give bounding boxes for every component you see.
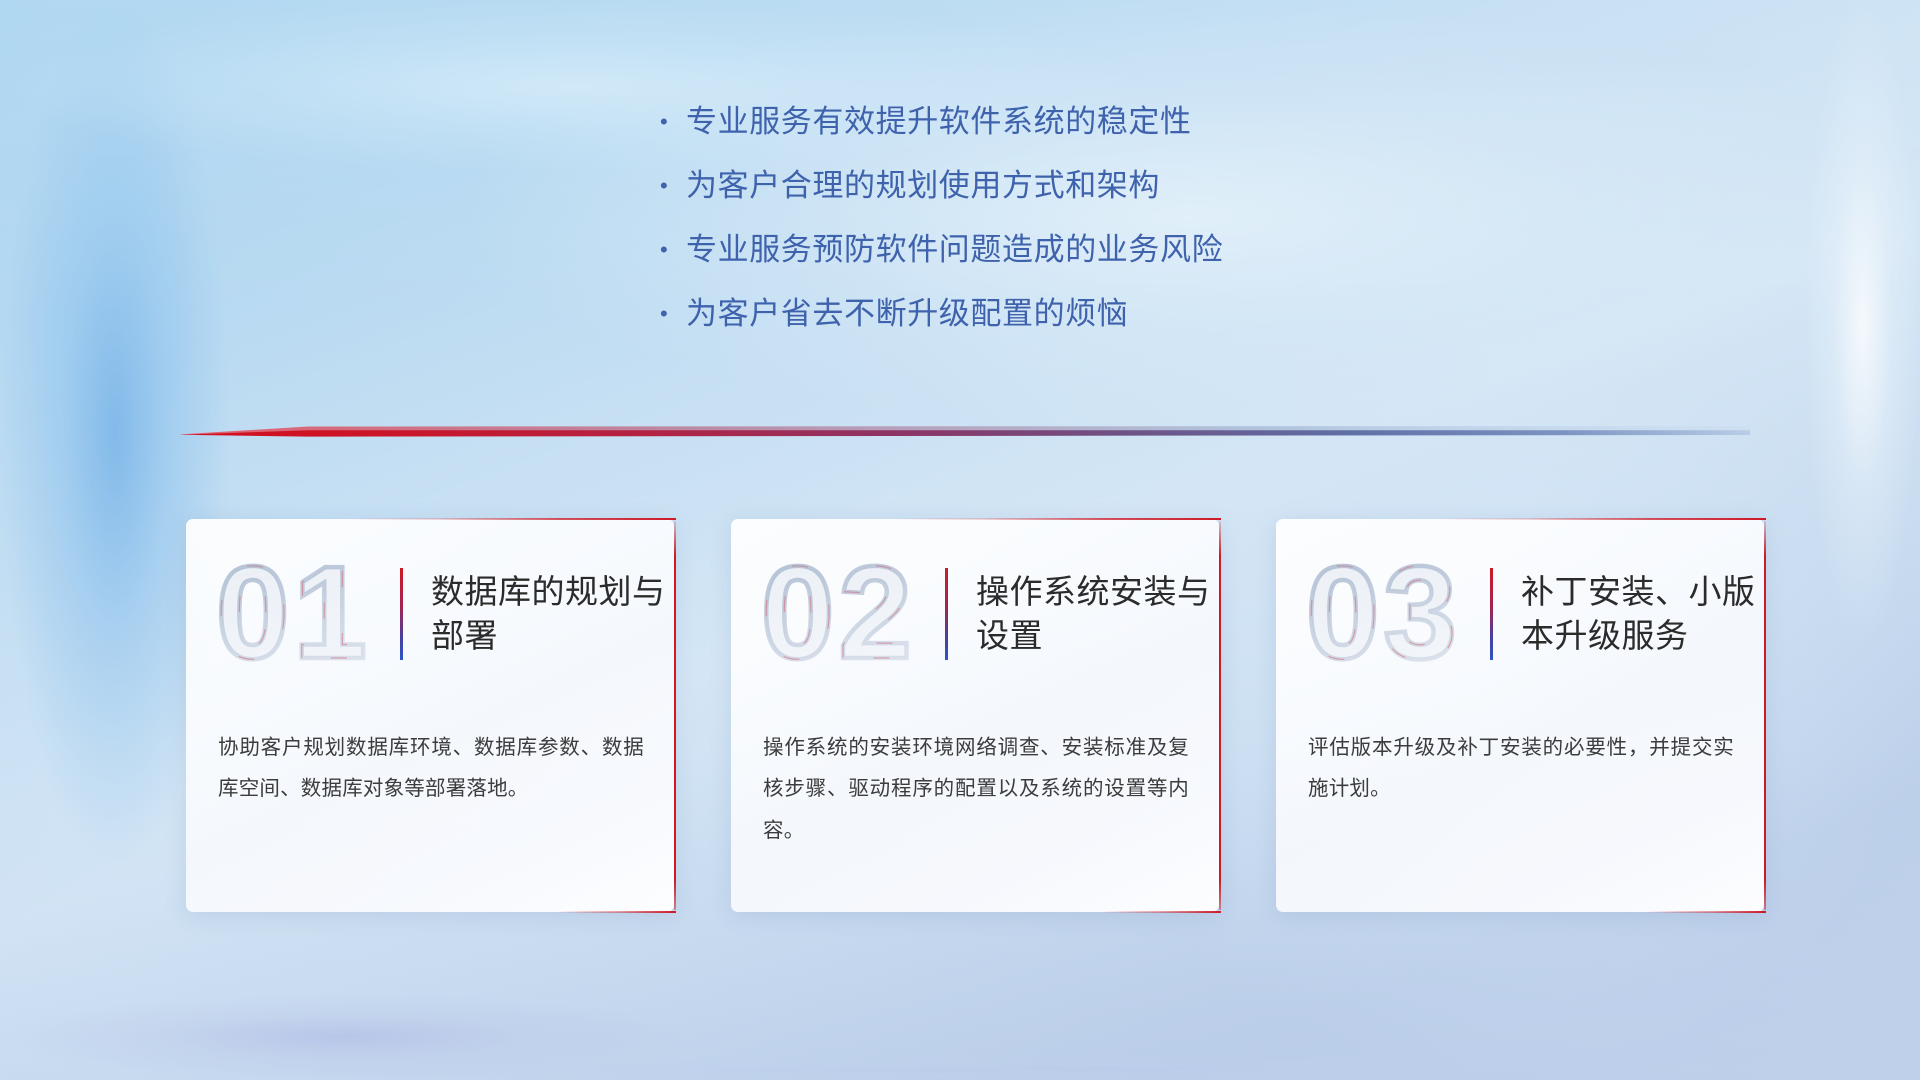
card-title-rule (1490, 568, 1493, 660)
list-item: • 专业服务预防软件问题造成的业务风险 (660, 224, 1480, 288)
list-item: • 专业服务有效提升软件系统的稳定性 (660, 96, 1480, 160)
card-number-striped-graphic: 02 02 02 (759, 546, 945, 682)
card-description: 评估版本升级及补丁安装的必要性，并提交实施计划。 (1308, 727, 1734, 810)
list-item: • 为客户省去不断升级配置的烦恼 (660, 288, 1480, 352)
card-title: 补丁安装、小版本升级服务 (1521, 570, 1757, 657)
card-number-striped-graphic: 03 03 03 (1304, 546, 1490, 682)
card-description: 操作系统的安装环境网络调查、安装标准及复核步骤、驱动程序的配置以及系统的设置等内… (763, 727, 1189, 851)
service-card-list: 01 01 01 数据库的规划与部署 协助客户规划数据库环境、数据库参数、数据库… (186, 519, 1764, 912)
bullet-text: 为客户合理的规划使用方式和架构 (686, 160, 1160, 205)
card-description: 协助客户规划数据库环境、数据库参数、数据库空间、数据库对象等部署落地。 (218, 727, 644, 810)
service-card[interactable]: 01 01 01 数据库的规划与部署 协助客户规划数据库环境、数据库参数、数据库… (186, 519, 674, 912)
svg-text:03: 03 (1306, 546, 1461, 682)
card-title: 操作系统安装与设置 (976, 570, 1212, 657)
card-header: 02 02 02 操作系统安装与设置 (731, 539, 1219, 689)
card-title-rule (945, 568, 948, 660)
bullet-dot-icon: • (660, 175, 686, 197)
slide-canvas: • 专业服务有效提升软件系统的稳定性 • 为客户合理的规划使用方式和架构 • 专… (0, 0, 1920, 1080)
list-item: • 为客户合理的规划使用方式和架构 (660, 160, 1480, 224)
bullet-text: 专业服务有效提升软件系统的稳定性 (686, 96, 1192, 141)
card-header: 01 01 01 数据库的规划与部署 (186, 539, 674, 689)
card-header: 03 03 03 补丁安装、小版本升级服务 (1276, 539, 1764, 689)
bullet-dot-icon: • (660, 111, 686, 133)
section-divider (178, 418, 1750, 444)
svg-text:02: 02 (761, 546, 916, 682)
card-title: 数据库的规划与部署 (431, 570, 667, 657)
bullet-text: 专业服务预防软件问题造成的业务风险 (686, 224, 1223, 269)
bullet-dot-icon: • (660, 303, 686, 325)
service-card[interactable]: 02 02 02 操作系统安装与设置 操作系统的安装环境网络调查、安装标准及复核… (731, 519, 1219, 912)
svg-text:01: 01 (216, 546, 371, 682)
card-title-rule (400, 568, 403, 660)
card-number-striped-graphic: 01 01 01 (214, 546, 400, 682)
bullet-dot-icon: • (660, 239, 686, 261)
benefits-bullet-list: • 专业服务有效提升软件系统的稳定性 • 为客户合理的规划使用方式和架构 • 专… (660, 96, 1480, 352)
service-card[interactable]: 03 03 03 补丁安装、小版本升级服务 评估版本升级及补丁安装的必要性，并提… (1276, 519, 1764, 912)
bullet-text: 为客户省去不断升级配置的烦恼 (686, 288, 1128, 333)
